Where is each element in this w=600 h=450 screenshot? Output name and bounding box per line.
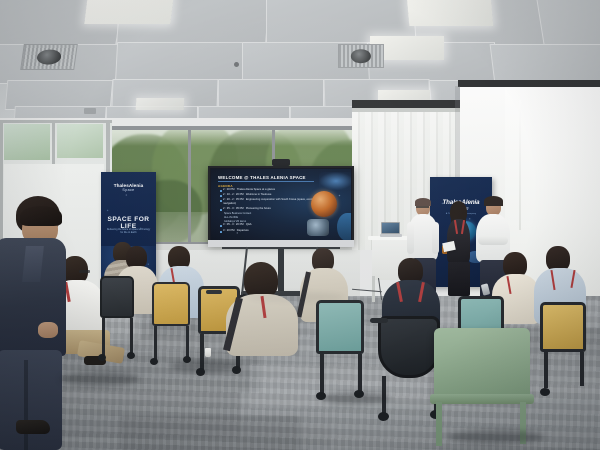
window-frame-upper-right (352, 100, 464, 108)
attendee-1-glasses (79, 270, 90, 273)
banner-left-brand-suffix: Space (101, 188, 156, 192)
display-bezel-bottom (208, 240, 354, 247)
slide-content: WELCOME @ THALES ALENIA SPACE AGENDA 2 :… (211, 169, 351, 241)
presenter-laptop[interactable] (380, 222, 402, 237)
ceiling-speaker (84, 108, 96, 114)
ceiling-sensor (234, 62, 239, 67)
air-vent-right (338, 44, 384, 68)
paper-cup[interactable] (205, 348, 211, 357)
presentation-display[interactable]: WELCOME @ THALES ALENIA SPACE AGENDA 2 :… (208, 166, 354, 244)
ceiling-light-right (407, 0, 494, 26)
standing-man-lapel (22, 246, 44, 282)
air-vent-left (20, 44, 78, 70)
podium-leg-left (372, 276, 375, 302)
presenter-3-crossed-arms (478, 236, 508, 245)
standing-man-shoe (16, 420, 50, 434)
ceiling-light-left (84, 0, 173, 24)
shade-pull-cord[interactable] (519, 100, 521, 230)
ceiling-light-mid (136, 98, 185, 110)
presenter-1-glasses (416, 206, 429, 208)
chair-armrest-2 (370, 318, 388, 323)
shade-valance (458, 80, 600, 87)
conference-room-photo: ThalesAlenia Space SPACE FOR LIFE Delive… (0, 0, 600, 450)
screen-camera-bar (272, 159, 290, 166)
standing-man-trousers (0, 350, 62, 450)
standing-man-hand (38, 322, 58, 338)
banner-left-subline: Delivering the future of space technolog… (101, 228, 156, 235)
chair-armrest-1 (206, 290, 222, 294)
